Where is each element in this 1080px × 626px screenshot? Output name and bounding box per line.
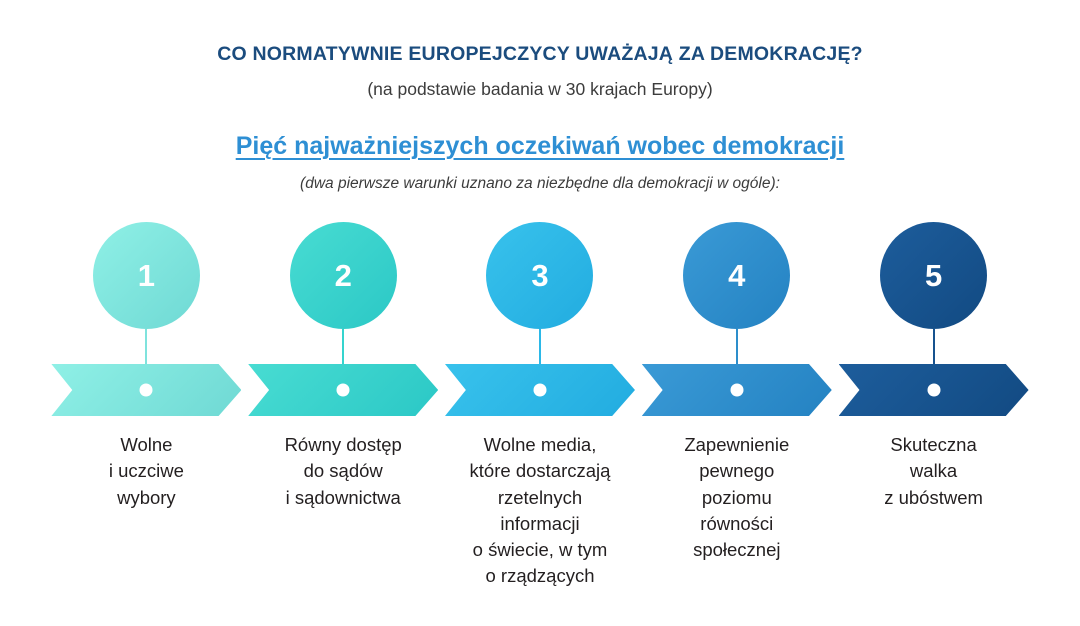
- step-number-circle[interactable]: 5: [880, 222, 987, 329]
- header: CO NORMATYWNIE EUROPEJCZYCY UWAŻAJĄ ZA D…: [0, 0, 1080, 195]
- step-chevron-banner[interactable]: [248, 364, 438, 416]
- step-chevron-banner[interactable]: [839, 364, 1029, 416]
- step-caption: Wolne i uczciwe wybory: [48, 432, 244, 511]
- step-caption: Równy dostęp do sądów i sądownictwa: [245, 432, 441, 511]
- connector-line: [539, 329, 541, 364]
- chevron-dot-icon: [730, 384, 743, 397]
- infographic-page: CO NORMATYWNIE EUROPEJCZYCY UWAŻAJĄ ZA D…: [0, 0, 1080, 626]
- step-number-label: 5: [925, 260, 942, 291]
- step-circle-wrap: 4: [638, 222, 835, 364]
- step-number-circle[interactable]: 2: [290, 222, 397, 329]
- step-number-label: 1: [138, 260, 155, 291]
- connector-line: [145, 329, 147, 364]
- step-column: 2Równy dostęp do sądów i sądownictwa: [245, 222, 442, 590]
- step-circle-wrap: 5: [835, 222, 1032, 364]
- step-number-label: 3: [531, 260, 548, 291]
- chevron-dot-icon: [533, 384, 546, 397]
- step-chevron-wrap: [48, 364, 245, 416]
- section-heading: Pięć najważniejszych oczekiwań wobec dem…: [0, 131, 1080, 162]
- page-title: CO NORMATYWNIE EUROPEJCZYCY UWAŻAJĄ ZA D…: [0, 42, 1080, 66]
- page-subtitle: (na podstawie badania w 30 krajach Europ…: [0, 78, 1080, 101]
- step-column: 1Wolne i uczciwe wybory: [48, 222, 245, 590]
- chevron-dot-icon: [337, 384, 350, 397]
- connector-line: [736, 329, 738, 364]
- step-chevron-wrap: [442, 364, 639, 416]
- step-caption: Wolne media, które dostarczają rzetelnyc…: [442, 432, 638, 590]
- step-circle-wrap: 3: [442, 222, 639, 364]
- step-number-circle[interactable]: 1: [93, 222, 200, 329]
- step-chevron-banner[interactable]: [445, 364, 635, 416]
- step-chevron-wrap: [638, 364, 835, 416]
- section-note: (dwa pierwsze warunki uznano za niezbędn…: [0, 174, 1080, 194]
- step-number-circle[interactable]: 3: [486, 222, 593, 329]
- steps-diagram: 1Wolne i uczciwe wybory2Równy dostęp do …: [0, 222, 1080, 626]
- connector-line: [342, 329, 344, 364]
- step-chevron-wrap: [245, 364, 442, 416]
- step-number-label: 4: [728, 260, 745, 291]
- chevron-dot-icon: [927, 384, 940, 397]
- step-column: 5Skuteczna walka z ubóstwem: [835, 222, 1032, 590]
- step-column: 4Zapewnienie pewnego poziomu równości sp…: [638, 222, 835, 590]
- step-number-circle[interactable]: 4: [683, 222, 790, 329]
- steps-row: 1Wolne i uczciwe wybory2Równy dostęp do …: [0, 222, 1080, 590]
- step-chevron-banner[interactable]: [642, 364, 832, 416]
- step-caption: Zapewnienie pewnego poziomu równości spo…: [639, 432, 835, 563]
- step-chevron-banner[interactable]: [51, 364, 241, 416]
- chevron-dot-icon: [140, 384, 153, 397]
- step-caption: Skuteczna walka z ubóstwem: [836, 432, 1032, 511]
- step-circle-wrap: 2: [245, 222, 442, 364]
- step-circle-wrap: 1: [48, 222, 245, 364]
- step-number-label: 2: [335, 260, 352, 291]
- connector-line: [933, 329, 935, 364]
- step-chevron-wrap: [835, 364, 1032, 416]
- step-column: 3Wolne media, które dostarczają rzetelny…: [442, 222, 639, 590]
